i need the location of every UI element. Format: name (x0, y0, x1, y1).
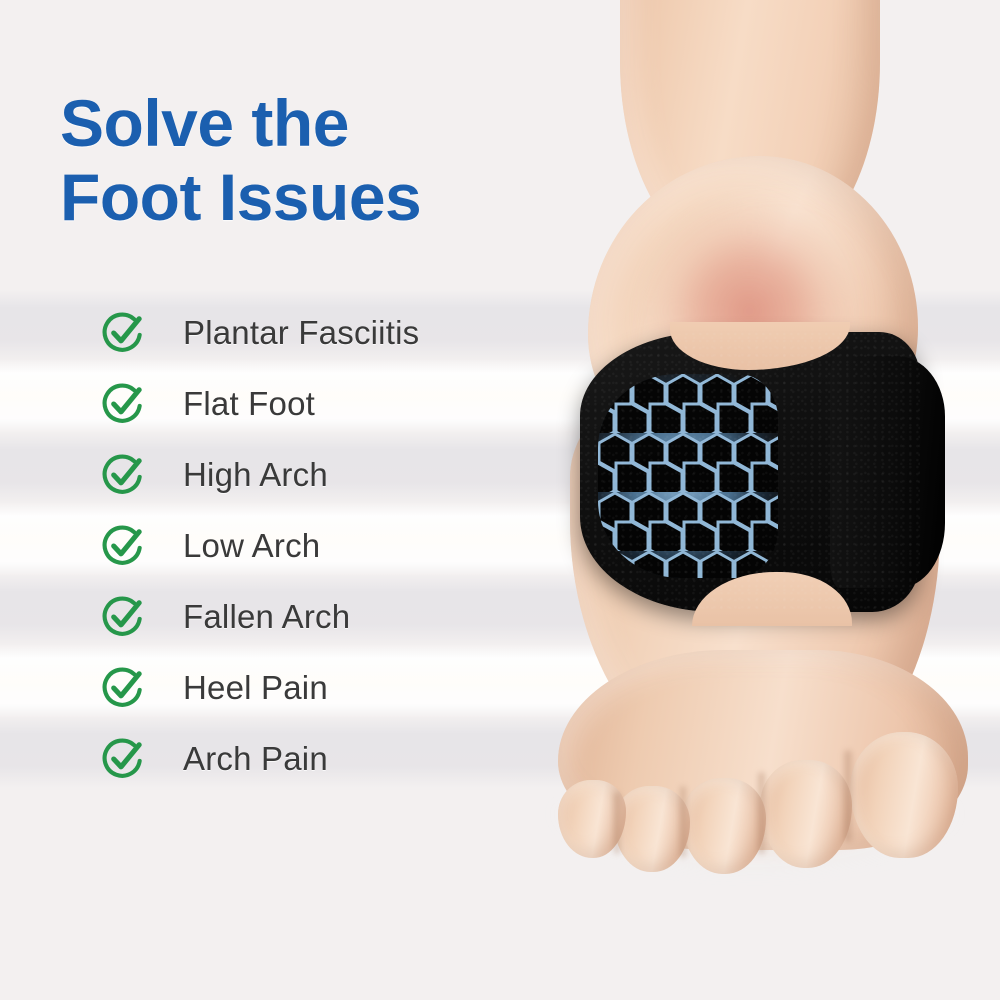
green-check-circle-icon (100, 664, 147, 711)
list-item: Flat Foot (100, 368, 419, 439)
list-item-label: Fallen Arch (183, 598, 350, 636)
toe-big (850, 732, 958, 858)
toe-gap-shadow-1 (844, 750, 852, 842)
green-check-circle-icon (100, 380, 147, 427)
toe-gap-shadow-2 (758, 772, 765, 854)
list-item-label: High Arch (183, 456, 328, 494)
list-item-label: Low Arch (183, 527, 320, 565)
list-item-label: Flat Foot (183, 385, 315, 423)
green-check-circle-icon (100, 451, 147, 498)
benefits-list: Plantar Fasciitis Flat Foot High Arch Lo… (100, 297, 419, 794)
green-check-circle-icon (100, 735, 147, 782)
honeycomb-panel (598, 374, 778, 578)
list-item: Heel Pain (100, 652, 419, 723)
product-promo-poster: Solve the Foot Issues Plantar Fasciitis … (0, 0, 1000, 1000)
green-check-circle-icon (100, 593, 147, 640)
arch-support-brace (580, 332, 920, 612)
list-item: Fallen Arch (100, 581, 419, 652)
list-item-label: Heel Pain (183, 669, 328, 707)
list-item: High Arch (100, 439, 419, 510)
foot-photo (430, 0, 1000, 1000)
list-item: Plantar Fasciitis (100, 297, 419, 368)
list-item-label: Arch Pain (183, 740, 328, 778)
page-title: Solve the Foot Issues (60, 86, 421, 234)
list-item: Low Arch (100, 510, 419, 581)
list-item: Arch Pain (100, 723, 419, 794)
toe-gap-shadow-3 (680, 786, 686, 858)
brace-strap (830, 356, 945, 588)
green-check-circle-icon (100, 522, 147, 569)
toe-gap-shadow-4 (614, 792, 620, 854)
green-check-circle-icon (100, 309, 147, 356)
list-item-label: Plantar Fasciitis (183, 314, 419, 352)
